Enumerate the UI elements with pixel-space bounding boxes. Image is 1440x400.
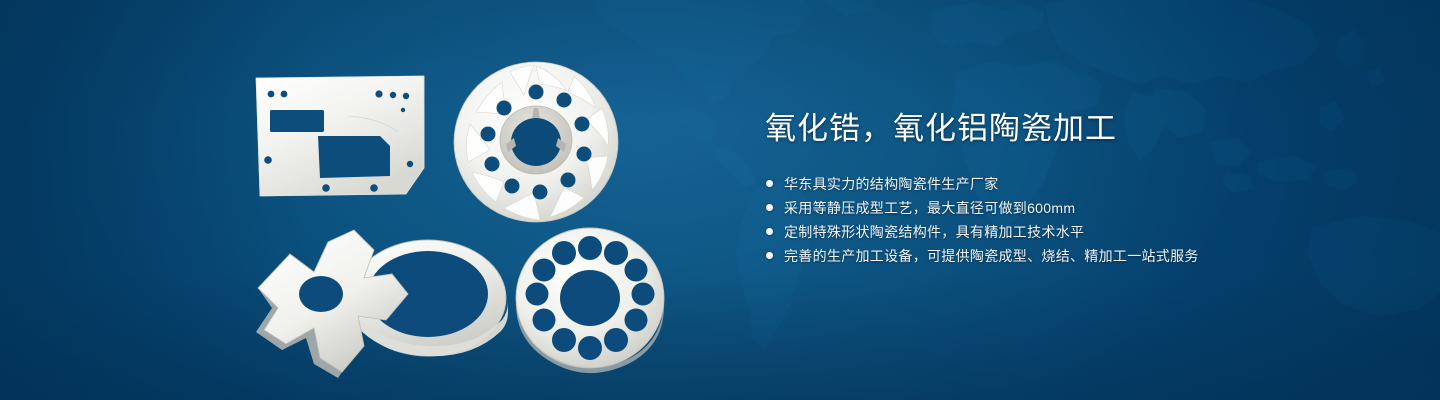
ceramic-perforated-disc-part bbox=[508, 222, 672, 378]
bullet-dot-icon bbox=[766, 228, 773, 235]
ceramic-impeller-part bbox=[448, 52, 624, 230]
list-item: 定制特殊形状陶瓷结构件，具有精加工技术水平 bbox=[765, 220, 1385, 243]
feature-text: 定制特殊形状陶瓷结构件，具有精加工技术水平 bbox=[784, 222, 1084, 242]
banner-copy: 氧化锆，氧化铝陶瓷加工 华东具实力的结构陶瓷件生产厂家 采用等静压成型工艺，最大… bbox=[765, 108, 1385, 268]
hero-banner: 氧化锆，氧化铝陶瓷加工 华东具实力的结构陶瓷件生产厂家 采用等静压成型工艺，最大… bbox=[0, 0, 1440, 400]
feature-text: 华东具实力的结构陶瓷件生产厂家 bbox=[784, 174, 999, 194]
product-images bbox=[0, 0, 720, 400]
ceramic-star-and-ring-part bbox=[246, 222, 524, 380]
feature-list: 华东具实力的结构陶瓷件生产厂家 采用等静压成型工艺，最大直径可做到600mm 定… bbox=[765, 172, 1385, 267]
list-item: 采用等静压成型工艺，最大直径可做到600mm bbox=[765, 196, 1385, 219]
bullet-dot-icon bbox=[766, 204, 773, 211]
bullet-dot-icon bbox=[766, 180, 773, 187]
feature-text: 采用等静压成型工艺，最大直径可做到600mm bbox=[784, 198, 1075, 218]
list-item: 完善的生产加工设备，可提供陶瓷成型、烧结、精加工一站式服务 bbox=[765, 244, 1385, 267]
list-item: 华东具实力的结构陶瓷件生产厂家 bbox=[765, 172, 1385, 195]
banner-headline: 氧化锆，氧化铝陶瓷加工 bbox=[765, 108, 1385, 150]
bullet-dot-icon bbox=[766, 252, 773, 259]
feature-text: 完善的生产加工设备，可提供陶瓷成型、烧结、精加工一站式服务 bbox=[784, 246, 1199, 266]
ceramic-plate-part bbox=[248, 72, 430, 200]
